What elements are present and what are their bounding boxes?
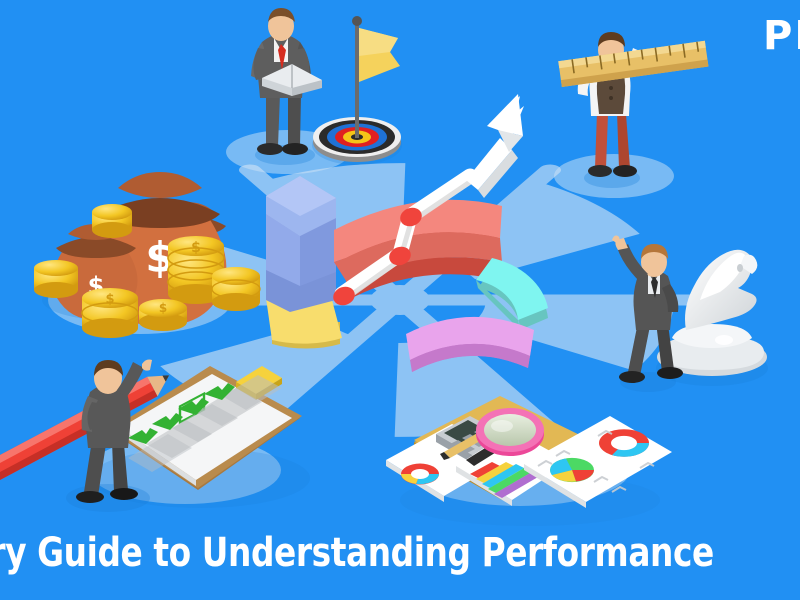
coin-left [34,260,78,298]
illustration-canvas: $ $ $ [0,0,800,600]
coin-single: $ [139,299,187,331]
svg-text:$: $ [159,301,167,315]
coin-top-left [92,204,132,238]
coin-stack-front: $ [82,288,138,338]
donut-segment-periwinkle [266,176,336,312]
svg-text:$: $ [191,240,201,256]
svg-text:$: $ [105,292,114,307]
isometric-business-illustration: $ $ $ [0,0,800,600]
